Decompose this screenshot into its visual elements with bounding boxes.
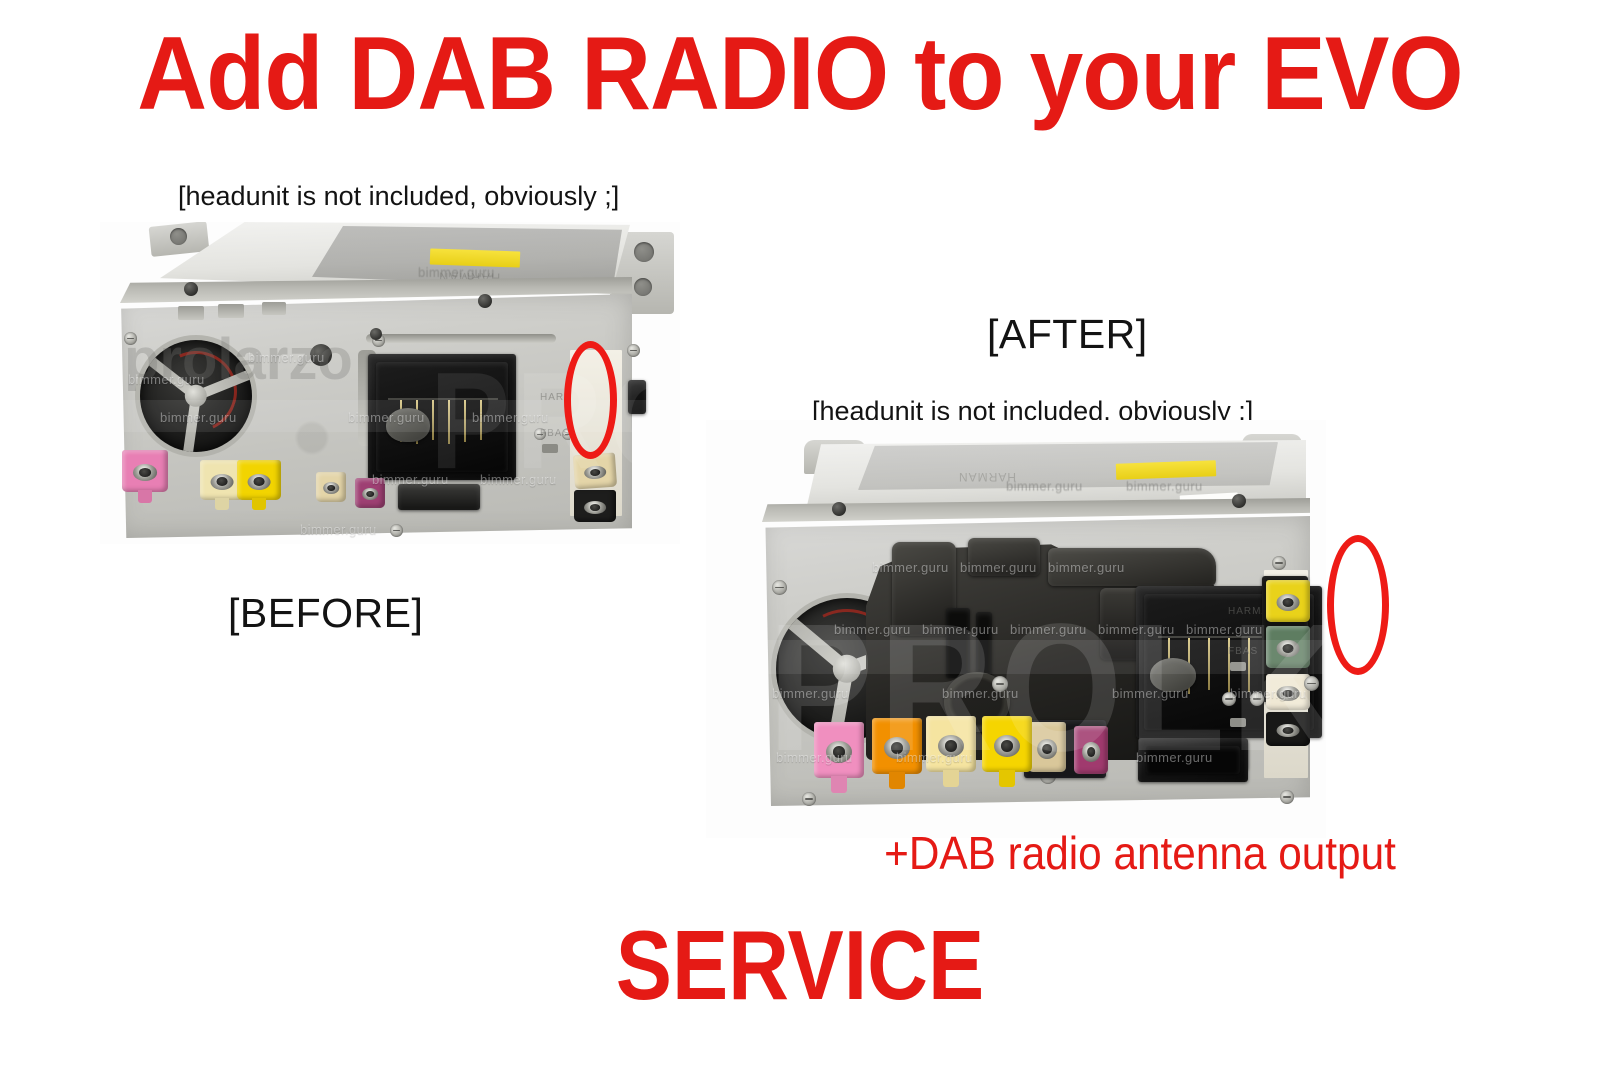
- vent-slot-3: [262, 302, 286, 315]
- fakra-beige-right-barrel: [584, 465, 607, 480]
- harness-pin: [432, 400, 434, 440]
- etch-fbas-after: FBAS: [1228, 646, 1258, 657]
- bottom-black-port-inner: [1146, 746, 1240, 774]
- after-label: [AFTER]: [987, 311, 1148, 358]
- fakra-yellow-after-tab: [999, 770, 1015, 787]
- poster-canvas: Add DAB RADIO to your EVO [headunit is n…: [0, 0, 1600, 1092]
- after-annotation-ellipse: [1327, 535, 1389, 675]
- etch-marker-block-after: [1230, 662, 1246, 671]
- fakra-cream-after-tab: [943, 770, 959, 787]
- before-photo-note: [headunit is not included, obviously ;]: [178, 181, 619, 212]
- cooling-fan: [140, 340, 252, 452]
- vent-slot-2: [218, 304, 244, 318]
- before-label: [BEFORE]: [228, 590, 423, 637]
- fakra-black-lower-barrel: [1277, 724, 1300, 738]
- fakra-violet-barrel: [362, 488, 378, 500]
- dab-housing-slot-1: [946, 608, 970, 678]
- chassis-screw-a5: [1222, 692, 1236, 706]
- chassis-screw-a4: [992, 676, 1008, 692]
- chassis-screw-6: [184, 282, 198, 296]
- fakra-dab-yellow-barrel: [1277, 594, 1300, 611]
- ring-detail: [292, 418, 332, 458]
- fakra-cream-after-barrel: [938, 735, 964, 757]
- vent-slot-4: [366, 334, 556, 343]
- fakra-black-right: [574, 490, 616, 522]
- fakra-cream-tab: [215, 498, 229, 510]
- fakra-pink-tab: [138, 490, 153, 503]
- page-title: Add DAB RADIO to your EVO: [56, 22, 1544, 126]
- chassis-screw-9: [390, 524, 403, 537]
- harness-pin: [464, 400, 466, 442]
- chassis-screw-a1: [772, 580, 787, 595]
- harness-pin: [1208, 638, 1210, 690]
- harness-latch: [398, 484, 480, 510]
- fakra-dab-green-barrel: [1277, 640, 1300, 657]
- chassis-screw-a11: [1280, 790, 1294, 804]
- fakra-violet-after-barrel: [1082, 742, 1100, 761]
- bracket-hole-right-1: [634, 242, 654, 262]
- chassis-screw-a10: [802, 792, 816, 806]
- dab-housing-latch-mid: [968, 538, 1040, 576]
- chassis-brand-etch-after: HARMAN: [958, 470, 1016, 484]
- fakra-cream-barrel: [211, 474, 234, 490]
- chassis-round-hole: [310, 344, 332, 366]
- etch-fbas-before: FBAS: [540, 428, 570, 439]
- fakra-beige-after: [1028, 722, 1066, 772]
- fakra-pink-after: [814, 722, 864, 778]
- after-headunit-photo: HARMAN: [706, 420, 1326, 838]
- fakra-beige: [316, 472, 346, 502]
- bracket-hole-right-2: [634, 278, 652, 296]
- fakra-yellow-after-barrel: [994, 735, 1020, 757]
- dab-output-caption: +DAB radio antenna output: [800, 830, 1481, 876]
- fakra-orange-after-tab: [889, 772, 905, 789]
- harness-clip-after: [1150, 658, 1196, 692]
- fakra-violet: [355, 478, 385, 508]
- fakra-white-lower-after: [1266, 674, 1310, 710]
- fakra-yellow: [237, 460, 281, 500]
- chassis-screw-a2: [1304, 676, 1319, 691]
- fakra-white-lower-barrel: [1277, 686, 1300, 700]
- fakra-beige-barrel: [323, 482, 339, 494]
- chassis-screw-a9: [1272, 556, 1286, 570]
- fakra-dab-green: [1266, 626, 1310, 668]
- top-yellow-sticker: [430, 248, 521, 267]
- chassis-side-tab: [628, 380, 646, 414]
- dab-housing-ridge: [1048, 548, 1216, 586]
- chassis-screw-1: [124, 332, 137, 345]
- service-word: SERVICE: [112, 916, 1488, 1014]
- harness-pin: [480, 400, 482, 440]
- chassis-screw-8: [370, 328, 382, 340]
- fakra-pink-barrel: [133, 464, 157, 481]
- fakra-dab-yellow: [1266, 580, 1310, 622]
- fakra-orange-after: [872, 718, 922, 774]
- before-annotation-ellipse: [564, 341, 617, 459]
- fakra-black-lower-after: [1266, 712, 1310, 746]
- fakra-violet-after: [1074, 726, 1108, 774]
- chassis-screw-a7: [832, 502, 846, 516]
- fakra-orange-after-barrel: [884, 737, 910, 759]
- fakra-pink-after-tab: [831, 776, 847, 793]
- harness-clip: [386, 408, 430, 442]
- etch-marker-block: [542, 444, 558, 453]
- etch-marker-block-after-2: [1230, 718, 1246, 727]
- dab-housing-slot-2: [976, 612, 992, 676]
- fakra-pink-after-barrel: [826, 741, 852, 763]
- chassis-screw-7: [478, 294, 492, 308]
- chassis-screw-a6: [1250, 692, 1264, 706]
- fakra-yellow-after: [982, 716, 1032, 772]
- fakra-beige-after-barrel: [1037, 739, 1057, 759]
- fakra-yellow-barrel: [248, 474, 271, 490]
- vent-slot-1: [178, 306, 204, 320]
- fakra-black-right-barrel: [584, 501, 606, 514]
- fakra-cream-after: [926, 716, 976, 772]
- fakra-yellow-tab: [252, 498, 266, 510]
- harness-pin: [448, 400, 450, 444]
- chassis-screw-3: [627, 344, 640, 357]
- chassis-screw-a8: [1232, 494, 1246, 508]
- bracket-hole-left-1: [170, 228, 187, 245]
- fakra-pink: [122, 450, 168, 492]
